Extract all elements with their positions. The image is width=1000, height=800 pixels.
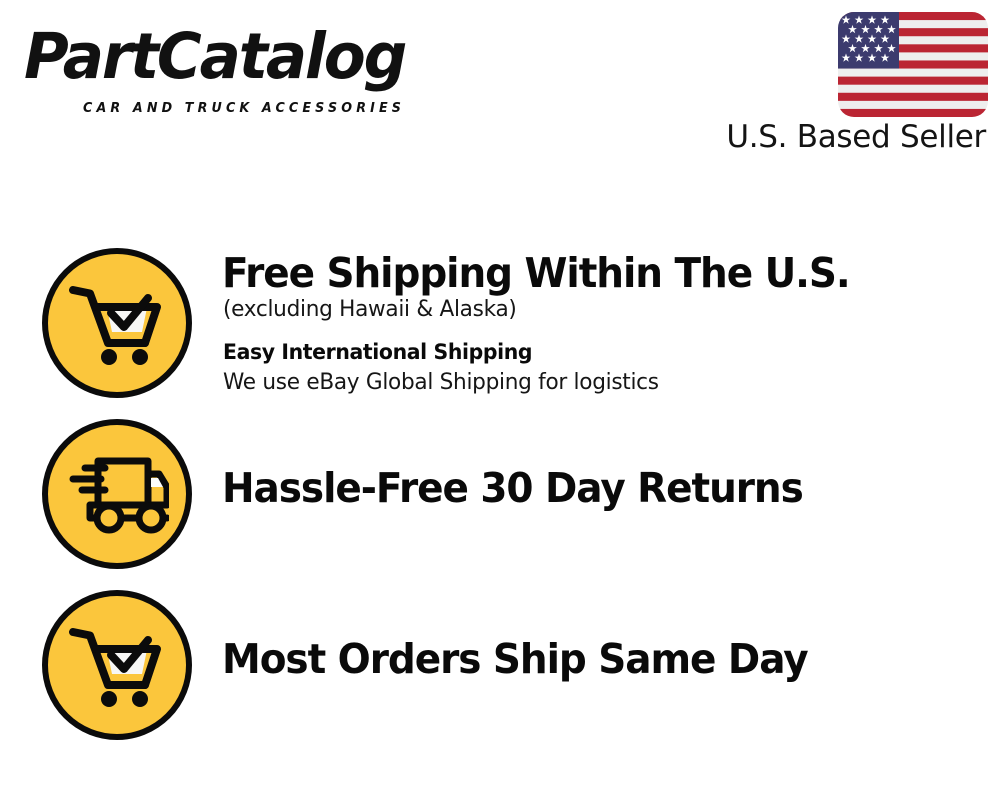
shopping-cart-check-icon xyxy=(42,248,192,398)
brand-logo[interactable]: PartCatalog CAR AND TRUCK ACCESSORIES xyxy=(24,22,494,114)
shopping-cart-check-icon xyxy=(42,590,192,740)
free-shipping-headline: Free Shipping Within The U.S. xyxy=(222,249,850,297)
delivery-truck-icon xyxy=(42,419,192,569)
same-day-headline: Most Orders Ship Same Day xyxy=(222,635,808,683)
page-header: PartCatalog CAR AND TRUCK ACCESSORIES xyxy=(0,0,1000,175)
us-based-seller-label: U.S. Based Seller xyxy=(726,117,986,157)
shopping-cart-check-svg xyxy=(69,280,165,366)
international-shipping-description: We use eBay Global Shipping for logistic… xyxy=(223,366,659,399)
feature-row-free-shipping: Free Shipping Within The U.S. (excluding… xyxy=(0,243,1000,413)
brand-wordmark: PartCatalog xyxy=(24,22,405,92)
us-flag-icon xyxy=(838,12,988,117)
returns-headline: Hassle-Free 30 Day Returns xyxy=(222,464,803,512)
shopping-cart-check-svg xyxy=(69,622,165,708)
feature-row-same-day-shipping: Most Orders Ship Same Day xyxy=(0,585,1000,755)
feature-row-returns: Hassle-Free 30 Day Returns xyxy=(0,414,1000,584)
free-shipping-exclusion: (excluding Hawaii & Alaska) xyxy=(223,293,517,326)
international-shipping-title: Easy International Shipping xyxy=(223,336,532,369)
brand-tagline: CAR AND TRUCK ACCESSORIES xyxy=(83,100,405,116)
us-flag-svg xyxy=(838,12,988,117)
delivery-truck-svg xyxy=(65,454,169,534)
